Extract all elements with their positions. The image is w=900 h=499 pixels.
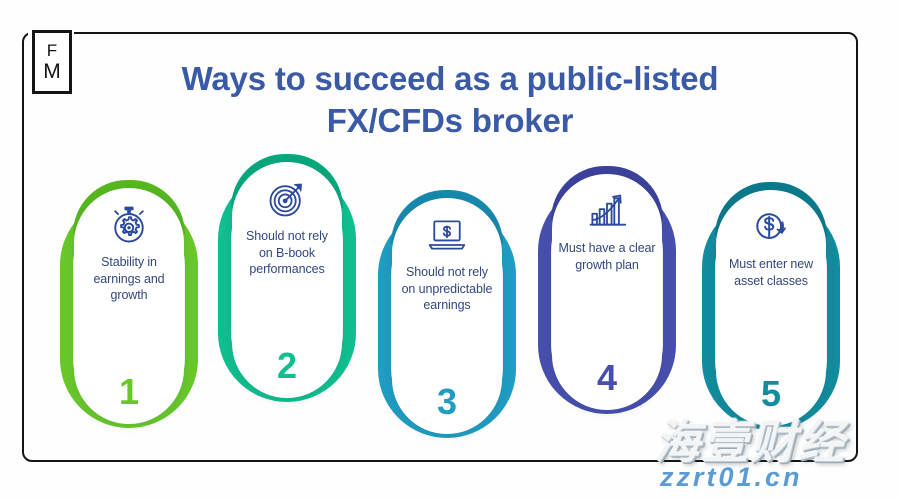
card-text: Must have a clear growth plan	[552, 240, 662, 273]
page-title-line-2: FX/CFDs broker	[110, 100, 790, 142]
laptop-dollar-icon	[423, 212, 471, 258]
card-number: 1	[74, 374, 184, 410]
cards-row: Stability in earnings and growth 1 Shoul…	[38, 150, 862, 450]
page-title: Ways to succeed as a public-listed FX/CF…	[110, 58, 790, 142]
card-pill: Must enter new asset classes 5	[716, 190, 826, 426]
growth-chart-icon	[583, 188, 631, 234]
fm-logo-letter-m: M	[43, 61, 61, 82]
card-pill: Stability in earnings and growth 1	[74, 188, 184, 424]
card-text: Should not rely on unpredictable earning…	[392, 264, 502, 314]
dollar-refresh-icon	[747, 204, 795, 250]
page-title-line-1: Ways to succeed as a public-listed	[110, 58, 790, 100]
fm-logo: F M	[32, 30, 72, 94]
card-number: 3	[392, 384, 502, 420]
card-pill: Must have a clear growth plan 4	[552, 174, 662, 410]
card-number: 5	[716, 376, 826, 412]
infographic-canvas: F M Ways to succeed as a public-listed F…	[0, 0, 900, 499]
card-pill: Should not rely on B-book performances 2	[232, 162, 342, 398]
card-number: 4	[552, 360, 662, 396]
card-text: Should not rely on B-book performances	[232, 228, 342, 278]
card-text: Stability in earnings and growth	[74, 254, 184, 304]
watermark-url-text: zzrt01.cn	[660, 462, 803, 493]
card-number: 2	[232, 348, 342, 384]
card-text: Must enter new asset classes	[716, 256, 826, 289]
fm-logo-letter-f: F	[47, 42, 57, 59]
stopwatch-gear-icon	[105, 202, 153, 248]
card-pill: Should not rely on unpredictable earning…	[392, 198, 502, 434]
target-arrow-icon	[263, 176, 311, 222]
